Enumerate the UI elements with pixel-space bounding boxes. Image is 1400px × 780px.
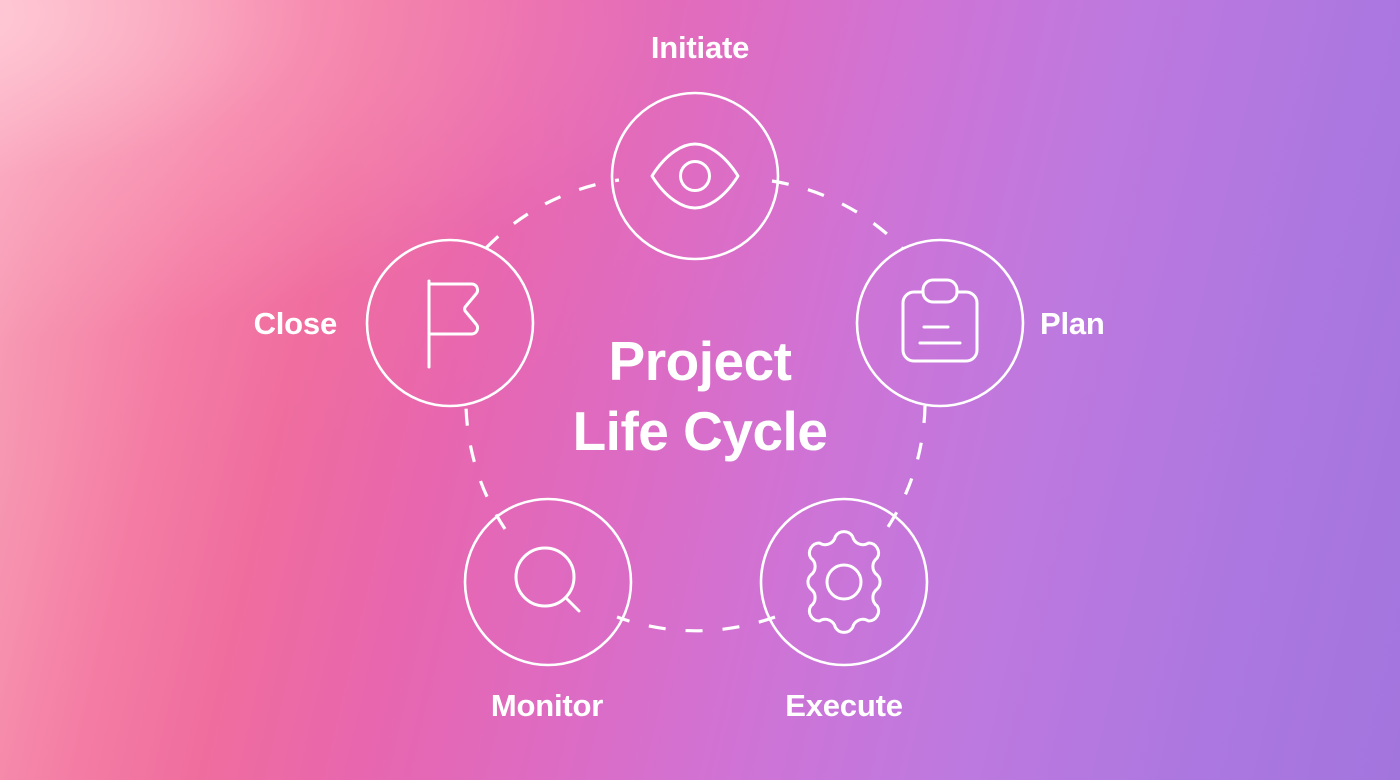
gear-icon [808, 532, 880, 633]
magnifier-icon [516, 548, 579, 611]
node-label-plan[interactable]: Plan [1040, 306, 1105, 342]
connector-close-initiate [486, 180, 619, 248]
eye-icon [652, 144, 738, 208]
node-label-close[interactable]: Close [0, 306, 337, 342]
center-title-line-1: Project [609, 330, 792, 392]
center-title-line-2: Life Cycle [573, 400, 828, 462]
node-label-initiate[interactable]: Initiate [0, 30, 1400, 66]
connector-initiate-plan [772, 181, 903, 249]
center-title: ProjectLife Cycle [0, 326, 1400, 466]
project-life-cycle-infographic: ProjectLife Cycle Initiate Plan Execute … [0, 0, 1400, 780]
connector-execute-monitor [617, 617, 775, 631]
node-circle-monitor[interactable] [465, 499, 631, 665]
node-circle-execute[interactable] [761, 499, 927, 665]
node-circle-initiate[interactable] [612, 93, 778, 259]
node-label-monitor[interactable]: Monitor [367, 688, 727, 724]
